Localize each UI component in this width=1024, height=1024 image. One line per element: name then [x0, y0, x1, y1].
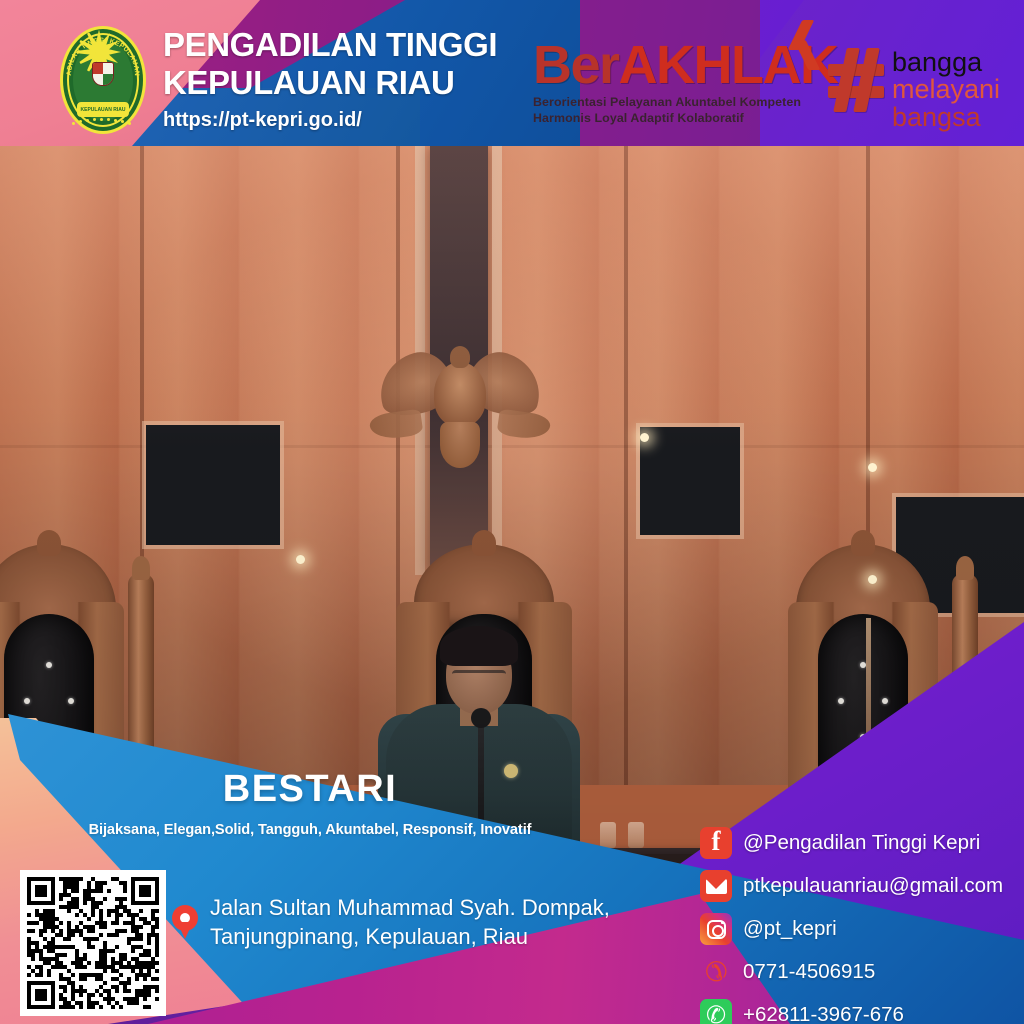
poster-header: PENGADILAN TINGGI KEPULAUAN RIAU KEPULAU…: [0, 0, 1024, 146]
bangga-line2: melayani: [892, 76, 1000, 104]
address-block: Jalan Sultan Muhammad Syah. Dompak, Tanj…: [172, 893, 642, 951]
berakhlak-logo: BerAKHLAK Berorientasi Pelayanan Akuntab…: [533, 38, 813, 138]
seal-sunburst: [81, 52, 125, 96]
location-pin-icon: [172, 905, 198, 939]
contact-facebook[interactable]: f @Pengadilan Tinggi Kepri: [700, 824, 1024, 862]
motto-block: BESTARI Bijaksana, Elegan,Solid, Tangguh…: [50, 770, 570, 838]
contact-instagram[interactable]: @pt_kepri: [700, 910, 1024, 948]
contact-instagram-label: @pt_kepri: [743, 919, 837, 940]
facebook-icon: f: [700, 827, 732, 859]
bangga-line3: bangsa: [892, 104, 1000, 132]
bangga-line1: bangga: [892, 49, 1000, 77]
seal-dot-border: [72, 118, 134, 126]
email-icon: [700, 870, 732, 902]
address-line2: Tanjungpinang, Kepulauan, Riau: [210, 922, 610, 951]
berakhlak-values: Berorientasi Pelayanan Akuntabel Kompete…: [533, 95, 813, 127]
whatsapp-icon: ✆: [700, 999, 732, 1024]
qr-code-canvas: [27, 877, 159, 1009]
address-text: Jalan Sultan Muhammad Syah. Dompak, Tanj…: [210, 893, 610, 951]
bangga-lines: bangga melayani bangsa: [892, 44, 1000, 136]
contact-email-label: ptkepulauanriau@gmail.com: [743, 876, 1003, 897]
seal-shield: [92, 62, 114, 86]
court-seal-icon: PENGADILAN TINGGI KEPULAUAN RIAU KEPULAU…: [60, 26, 146, 134]
hashtag-icon: [828, 48, 884, 112]
website-url[interactable]: https://pt-kepri.go.id/: [163, 110, 563, 130]
poster-canvas: WAKIL KETUA PENGADILAN TINGGI KEPULAUAN …: [0, 0, 1024, 1024]
contact-whatsapp-label: +62811-3967-676: [743, 1005, 904, 1024]
contact-email[interactable]: ptkepulauanriau@gmail.com: [700, 867, 1024, 905]
phone-icon: ✆: [700, 956, 732, 988]
seal-ribbon: KEPULAUAN RIAU: [77, 102, 129, 117]
contact-facebook-label: @Pengadilan Tinggi Kepri: [743, 833, 980, 854]
org-name-line2: KEPULAUAN RIAU: [163, 64, 563, 102]
chevron-icon: [795, 20, 829, 72]
seal-ribbon-label: KEPULAUAN RIAU: [81, 107, 126, 113]
motto-title: BESTARI: [50, 770, 570, 808]
header-title-block: PENGADILAN TINGGI KEPULAUAN RIAU https:/…: [163, 26, 563, 130]
qr-code[interactable]: [20, 870, 166, 1016]
contact-list: f @Pengadilan Tinggi Kepri ptkepulauanri…: [700, 824, 1024, 1024]
contact-whatsapp[interactable]: ✆ +62811-3967-676: [700, 996, 1024, 1024]
org-name-line1: PENGADILAN TINGGI: [163, 26, 563, 64]
bangga-melayani-bangsa-logo: bangga melayani bangsa: [828, 44, 1018, 136]
berakhlak-wordmark: BerAKHLAK: [533, 38, 813, 92]
contact-phone-label: 0771-4506915: [743, 962, 875, 983]
berakhlak-prefix: Ber: [533, 35, 619, 95]
instagram-icon: [700, 913, 732, 945]
contact-phone[interactable]: ✆ 0771-4506915: [700, 953, 1024, 991]
berakhlak-values-line2: Harmonis Loyal Adaptif Kolaboratif: [533, 111, 813, 127]
address-line1: Jalan Sultan Muhammad Syah. Dompak,: [210, 893, 610, 922]
berakhlak-values-line1: Berorientasi Pelayanan Akuntabel Kompete…: [533, 95, 813, 111]
motto-subtitle: Bijaksana, Elegan,Solid, Tangguh, Akunta…: [50, 823, 570, 838]
